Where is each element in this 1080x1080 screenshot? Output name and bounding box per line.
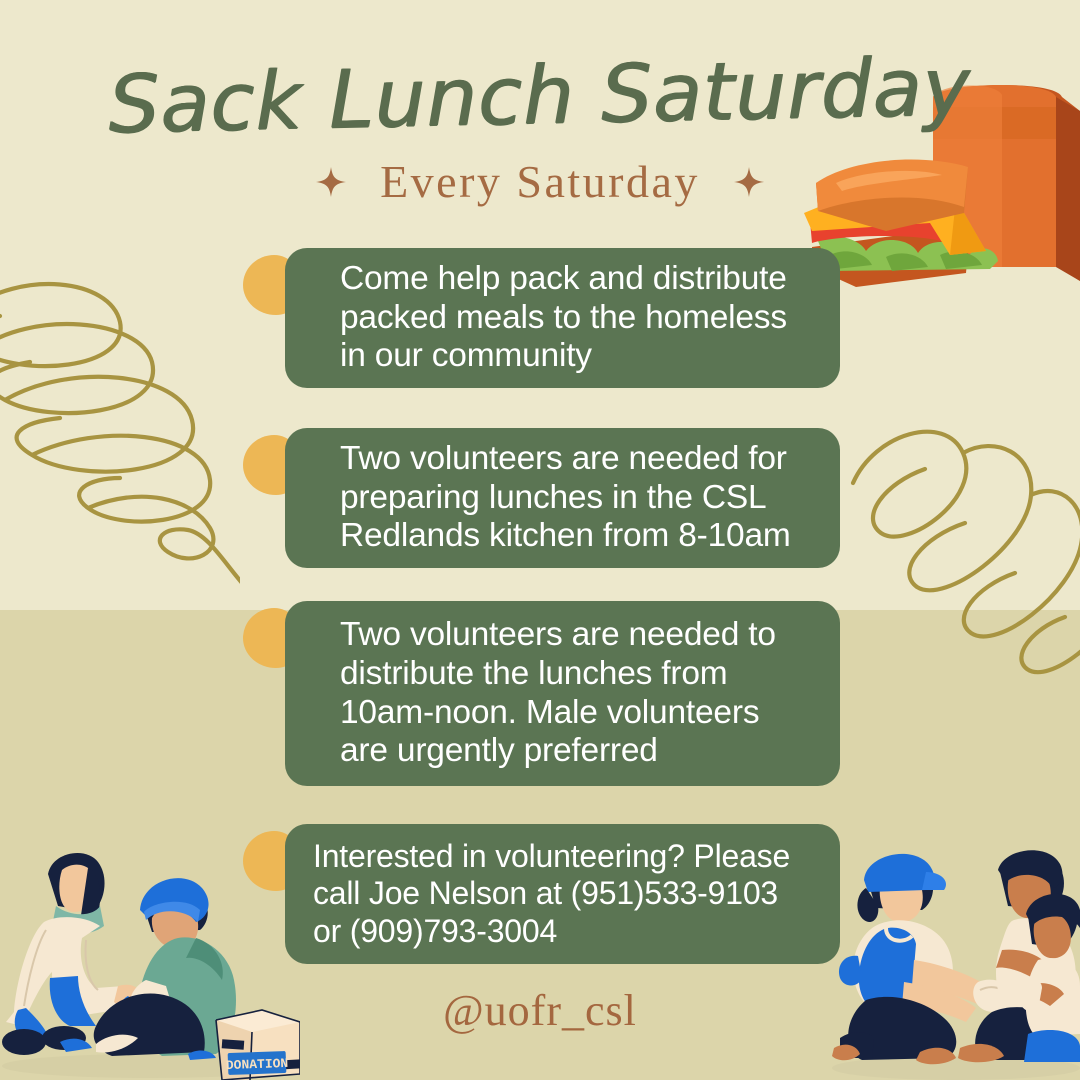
info-card-4-text: Interested in volunteering? Please call …	[313, 838, 790, 949]
info-card-3-text: Two volunteers are needed to distribute …	[340, 616, 776, 771]
info-card-1: Come help pack and distribute packed mea…	[285, 248, 840, 388]
page-title: Sack Lunch Saturday	[0, 45, 1080, 148]
info-card-2-text: Two volunteers are needed for preparing …	[340, 440, 791, 557]
info-card-2: Two volunteers are needed for preparing …	[285, 428, 840, 568]
info-card-3: Two volunteers are needed to distribute …	[285, 601, 840, 786]
four-point-star-icon-right	[734, 167, 764, 197]
four-point-star-icon-left	[316, 167, 346, 197]
poster-canvas: DONATION	[0, 0, 1080, 1080]
volunteer-serving-food-illustration	[832, 832, 1080, 1080]
subtitle: Every Saturday	[380, 155, 700, 208]
info-card-1-text: Come help pack and distribute packed mea…	[340, 260, 787, 377]
donation-box-label: DONATION	[226, 1056, 289, 1073]
subtitle-row: Every Saturday	[0, 155, 1080, 208]
social-handle: @uofr_csl	[0, 985, 1080, 1036]
info-card-4: Interested in volunteering? Please call …	[285, 824, 840, 964]
